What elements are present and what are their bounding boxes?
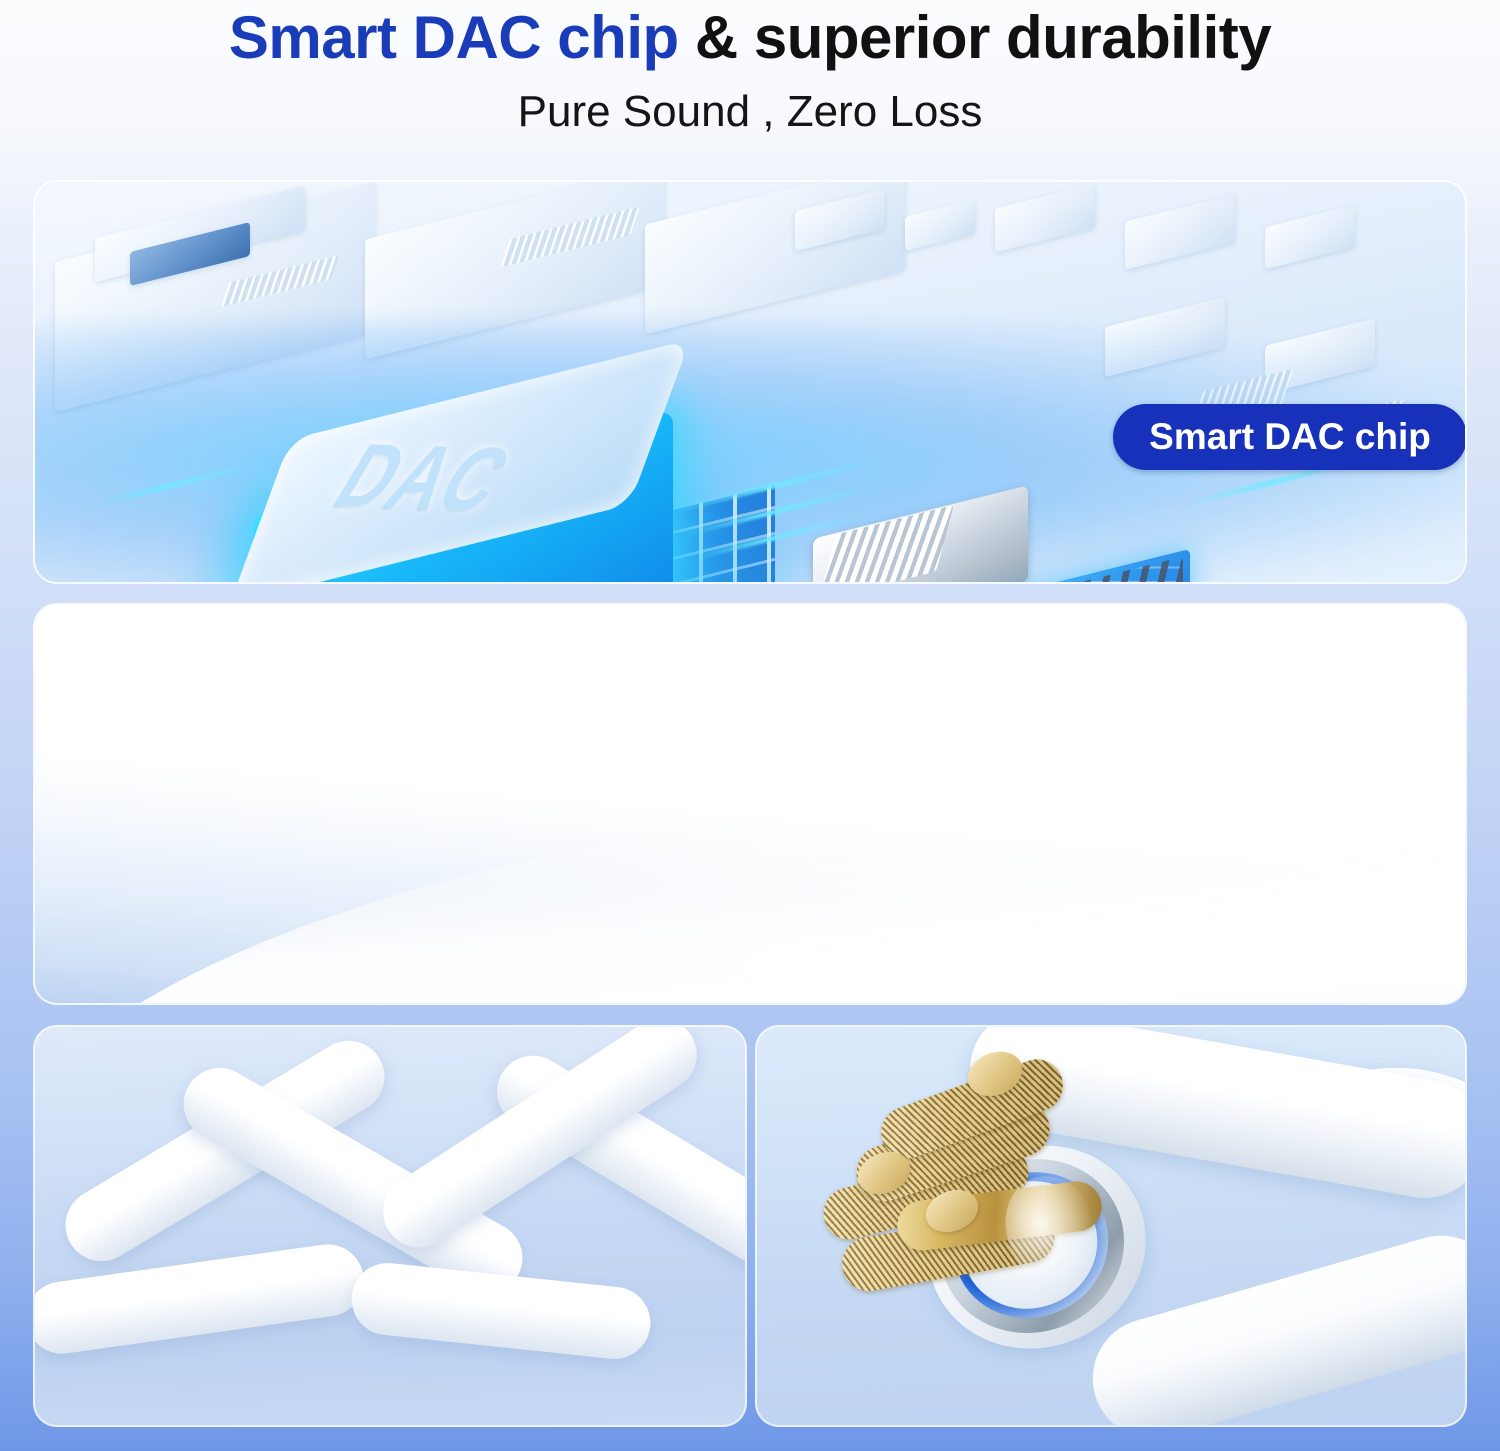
dac-chip-scene: DAC DAC [35, 182, 1465, 582]
copper-wire-scene [757, 1027, 1465, 1425]
lightning-plug-panel: Fortifies the Lightning plug [35, 605, 1465, 1003]
page-title-accent: Smart DAC chip [229, 4, 679, 71]
badge-smart-dac-chip: Smart DAC chip [1113, 404, 1465, 470]
product-feature-graphic: Smart DAC chip & superior durability Pur… [0, 0, 1500, 1451]
page-title: Smart DAC chip & superior durability [0, 0, 1500, 69]
lightning-plug-scene [35, 605, 1465, 1003]
header: Smart DAC chip & superior durability Pur… [0, 0, 1500, 170]
page-title-rest: & superior durability [679, 4, 1271, 71]
bend-test-panel: Withstands 20,000+ bends [35, 1027, 745, 1425]
smart-dac-chip-panel: DAC DAC Smart DAC chip [35, 182, 1465, 582]
twisted-cable-scene [35, 1027, 745, 1425]
copper-wire-panel: Bend-resistant pure copper wire [757, 1027, 1465, 1425]
page-subtitle: Pure Sound , Zero Loss [0, 69, 1500, 137]
